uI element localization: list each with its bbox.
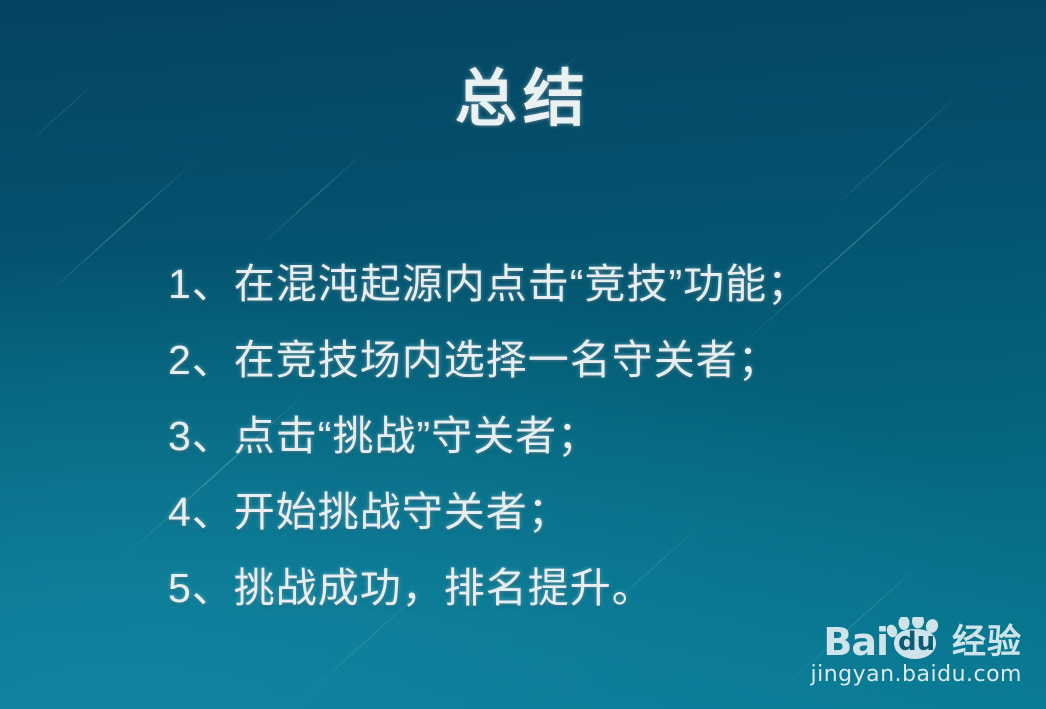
slide-title: 总结 [0,66,1046,134]
list-item: 1、在混沌起源内点击“竞技”功能； [168,246,988,322]
presentation-slide: 总结 1、在混沌起源内点击“竞技”功能； 2、在竞技场内选择一名守关者； 3、点… [0,0,1046,709]
watermark-logo-row: Bai du 经验 [810,619,1022,661]
light-streak [255,150,367,251]
baidu-paw-icon: du [884,617,946,661]
list-item: 4、开始挑战守关者； [168,474,988,550]
list-item: 3、点击“挑战”守关者； [168,398,988,474]
list-item: 5、挑战成功，排名提升。 [168,550,988,626]
baidu-wordmark-du: du [898,629,935,655]
watermark-url: jingyan.baidu.com [810,663,1022,687]
baidu-jingyan-label: 经验 [952,623,1022,661]
baidu-jingyan-watermark: Bai du 经验 jingyan.baidu.com [810,619,1022,687]
slide-step-list: 1、在混沌起源内点击“竞技”功能； 2、在竞技场内选择一名守关者； 3、点击“挑… [168,246,988,626]
baidu-wordmark-latin: Bai [823,623,888,661]
list-item: 2、在竞技场内选择一名守关者； [168,322,988,398]
